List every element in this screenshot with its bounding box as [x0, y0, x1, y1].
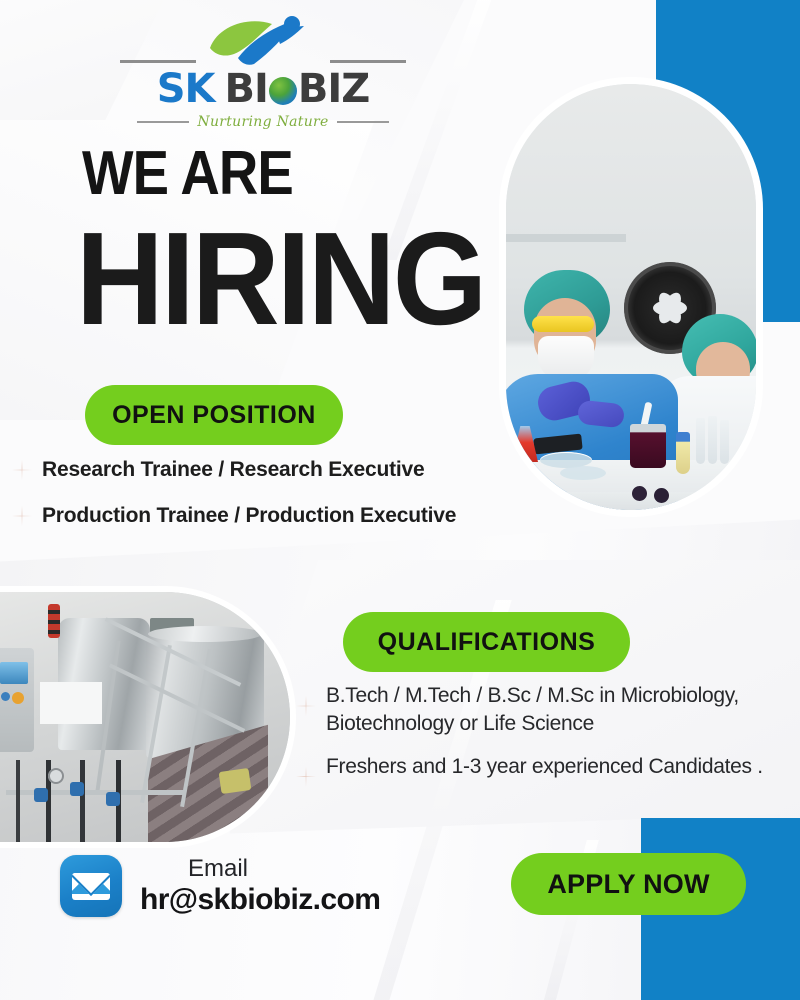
qualifications-badge: QUALIFICATIONS [343, 612, 630, 672]
open-position-list: Research Trainee / Research Executive Pr… [12, 458, 532, 550]
company-logo: SK BIBIZ Nurturing Nature [118, 14, 408, 132]
sparkle-bullet-icon [12, 460, 32, 480]
email-address[interactable]: hr@skbiobiz.com [140, 883, 380, 917]
tagline-text: Nurturing Nature [197, 114, 328, 130]
qualifications-list: B.Tech / M.Tech / B.Sc / M.Sc in Microbi… [296, 682, 796, 801]
headline-we-are: WE ARE [82, 143, 293, 205]
list-item: Production Trainee / Production Executiv… [12, 504, 532, 528]
headline-hiring: HIRING [76, 213, 484, 345]
contact-text: Email hr@skbiobiz.com [140, 856, 380, 916]
leaf-person-logo-icon [204, 14, 324, 74]
laboratory-photo [506, 84, 756, 510]
envelope-glyph [72, 873, 110, 900]
logo-biobiz-text: BIBIZ [225, 69, 370, 109]
list-item: B.Tech / M.Tech / B.Sc / M.Sc in Microbi… [296, 682, 796, 739]
position-label: Research Trainee / Research Executive [42, 458, 425, 482]
qualification-label: Freshers and 1-3 year experienced Candid… [326, 753, 763, 781]
contact-block: Email hr@skbiobiz.com [60, 855, 380, 917]
logo-wordmark: SK BIBIZ [118, 66, 408, 112]
hiring-poster: SK BIBIZ Nurturing Nature WE ARE HIRING [0, 0, 800, 1000]
sparkle-bullet-icon [296, 696, 316, 716]
list-item: Freshers and 1-3 year experienced Candid… [296, 753, 796, 787]
bioprocessing-plant-photo [0, 592, 290, 842]
open-position-badge: OPEN POSITION [85, 385, 343, 445]
list-item: Research Trainee / Research Executive [12, 458, 532, 482]
apply-now-button[interactable]: APPLY NOW [511, 853, 746, 915]
email-label: Email [140, 856, 380, 883]
email-icon[interactable] [60, 855, 122, 917]
sparkle-bullet-icon [296, 767, 316, 787]
globe-icon [269, 77, 297, 105]
logo-rules [120, 60, 406, 63]
position-label: Production Trainee / Production Executiv… [42, 504, 456, 528]
logo-sk-text: SK [157, 69, 215, 109]
logo-tagline: Nurturing Nature [118, 114, 408, 130]
qualification-label: B.Tech / M.Tech / B.Sc / M.Sc in Microbi… [326, 682, 796, 739]
sparkle-bullet-icon [12, 506, 32, 526]
